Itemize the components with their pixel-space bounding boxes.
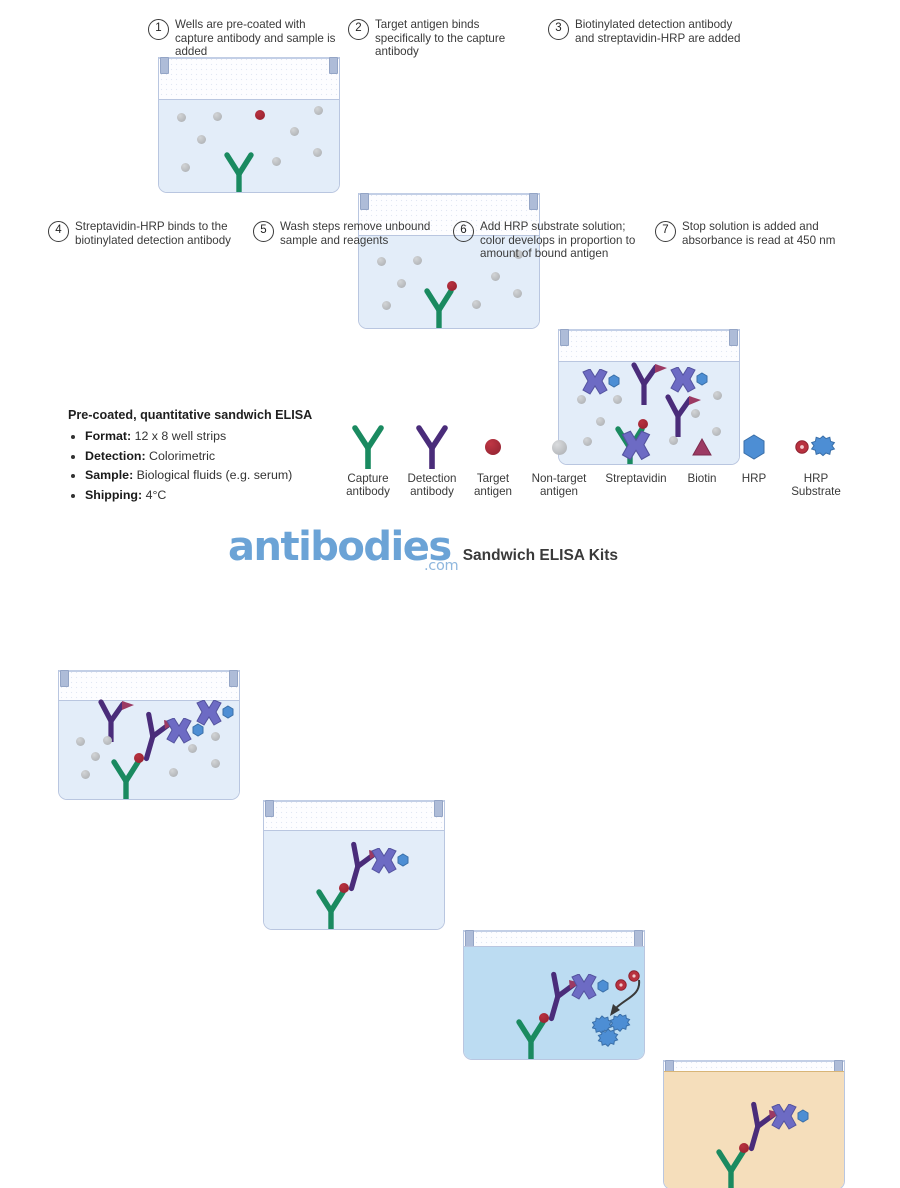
legend-label: Detection antibody [408, 472, 457, 499]
streptavidin-icon [197, 700, 221, 725]
well-5-top-edge [264, 800, 444, 802]
non-target-antigen-icon [713, 391, 722, 400]
non-target-antigen-icon [272, 157, 281, 166]
legend-label: HRP Substrate [791, 472, 841, 499]
streptavidin-icon [372, 848, 396, 873]
biotin-icon [692, 438, 712, 456]
well-1-top-edge [159, 57, 339, 59]
step-2-number: 2 [348, 19, 369, 40]
kit-info-item-detection: Detection: Colorimetric [85, 447, 358, 467]
legend-icon-wrap [692, 424, 712, 470]
legend-item-hrp-substrate: HRP Substrate [780, 424, 852, 499]
legend-label: HRP [742, 472, 766, 485]
step-1-header: 1 Wells are pre-coated with capture anti… [148, 18, 338, 59]
non-target-antigen-icon [197, 135, 206, 144]
streptavidin-hrp-icon [193, 700, 237, 728]
kit-info-title: Pre-coated, quantitative sandwich ELISA [68, 408, 358, 422]
non-target-antigen-icon [613, 395, 622, 404]
well-3-top-edge [559, 329, 739, 331]
well-2 [358, 193, 540, 329]
well-5-rim-right [434, 800, 443, 817]
legend-item-hrp: HRP [728, 424, 780, 485]
step-7-number: 7 [655, 221, 676, 242]
well-5-rim-left [265, 800, 274, 817]
non-target-antigen-icon [413, 256, 422, 265]
kit-info-label: Sample: [85, 468, 133, 482]
step-2-header: 2 Target antigen binds specifically to t… [348, 18, 538, 59]
kit-info-item-shipping: Shipping: 4°C [85, 486, 358, 506]
hrp-icon [798, 1110, 808, 1122]
well-6 [463, 930, 645, 1060]
hrp-icon [742, 434, 766, 460]
kit-info-value: Biological fluids (e.g. serum) [133, 468, 292, 482]
biotin-icon [122, 701, 134, 710]
step-6-number: 6 [453, 221, 474, 242]
well-2-rim-left [360, 193, 369, 210]
legend-label: Biotin [687, 472, 716, 485]
hrp-icon [398, 854, 408, 866]
non-target-antigen-icon [177, 113, 186, 122]
step-panel-7: 7 Stop solution is added and absorbance … [655, 220, 845, 247]
non-target-antigen-icon [382, 301, 391, 310]
kit-info-value: Colorimetric [146, 449, 216, 463]
brand-dotcom: .com [424, 558, 458, 574]
non-target-antigen-icon [76, 737, 85, 746]
well-3-rim-left [560, 329, 569, 346]
legend-icon-wrap [552, 424, 567, 470]
non-target-antigen-icon [169, 768, 178, 777]
well-1 [158, 57, 340, 193]
non-target-antigen-icon [397, 279, 406, 288]
legend-icon-wrap [742, 424, 766, 470]
non-target-antigen-icon [91, 752, 100, 761]
hrp-substrate-icon [614, 970, 642, 992]
well-5 [263, 800, 445, 930]
non-target-antigen-icon [513, 289, 522, 298]
legend-item-biotin: Biotin [676, 424, 728, 485]
streptavidin-hrp-icon [768, 1104, 812, 1132]
detection-antibody-icon [413, 425, 451, 469]
streptavidin-icon [772, 1104, 796, 1129]
legend-item-non-target-antigen: Non-target antigen [522, 424, 596, 499]
well-4-rim-left [60, 670, 69, 687]
legend-icon-wrap [349, 424, 387, 470]
step-3-number: 3 [548, 19, 569, 40]
non-target-antigen-icon [81, 770, 90, 779]
well-4-top-edge [59, 670, 239, 672]
step-panel-2: 2 Target antigen binds specifically to t… [348, 18, 538, 59]
streptavidin-icon [618, 430, 654, 464]
kit-info-value: 12 x 8 well strips [131, 429, 226, 443]
non-target-antigen-icon [188, 744, 197, 753]
legend-item-target-antigen: Target antigen [464, 424, 522, 499]
legend-icon-wrap [413, 424, 451, 470]
non-target-antigen-icon [577, 395, 586, 404]
streptavidin-icon [671, 367, 695, 392]
legend-item-capture-antibody: Capture antibody [336, 424, 400, 499]
step-3-header: 3 Biotinylated detection antibody and st… [548, 18, 744, 45]
hrp-substrate-product-icon [592, 1014, 634, 1048]
step-1-text: Wells are pre-coated with capture antibo… [175, 18, 338, 59]
step-5-text: Wash steps remove unbound sample and rea… [280, 220, 438, 247]
step-7-header: 7 Stop solution is added and absorbance … [655, 220, 845, 247]
hrp-icon [697, 373, 707, 385]
well-2-rim-right [529, 193, 538, 210]
kit-info-item-format: Format: 12 x 8 well strips [85, 427, 358, 447]
well-7 [663, 1060, 845, 1188]
step-panel-1: 1 Wells are pre-coated with capture anti… [148, 18, 338, 59]
well-4 [58, 670, 240, 800]
legend: Capture antibody Detection antibody Targ… [336, 424, 881, 499]
legend-item-streptavidin: Streptavidin [596, 424, 676, 485]
non-target-antigen-icon [313, 148, 322, 157]
streptavidin-hrp-icon [667, 367, 711, 395]
well-3-rim-right [729, 329, 738, 346]
brand-wordmark: antibodies [228, 527, 451, 567]
well-6-top-edge [464, 930, 644, 932]
well-6-rim-left [465, 930, 474, 947]
biotin-icon [689, 396, 701, 405]
legend-label: Non-target antigen [532, 472, 587, 499]
brand-footer: antibodies .com Sandwich ELISA Kits [228, 527, 618, 567]
well-4-rim-right [229, 670, 238, 687]
streptavidin-icon [572, 974, 596, 999]
step-panel-5: 5 Wash steps remove unbound sample and r… [253, 220, 438, 247]
detection-antibody-icon [93, 696, 135, 742]
target-antigen-icon [485, 439, 501, 455]
non-target-antigen-icon [213, 112, 222, 121]
well-2-top-edge [359, 193, 539, 195]
step-panel-6: 6 Add HRP substrate solution; color deve… [453, 220, 645, 261]
step-4-header: 4 Streptavidin-HRP binds to the biotinyl… [48, 220, 240, 247]
legend-label: Streptavidin [605, 472, 666, 485]
brand-tagline: Sandwich ELISA Kits [463, 547, 618, 565]
non-target-antigen-icon [290, 127, 299, 136]
well-1-rim-left [160, 57, 169, 74]
step-7-text: Stop solution is added and absorbance is… [682, 220, 845, 247]
step-panel-4: 4 Streptavidin-HRP binds to the biotinyl… [48, 220, 240, 247]
biotin-icon [655, 364, 667, 373]
non-target-antigen-icon [691, 409, 700, 418]
non-target-antigen-icon [211, 759, 220, 768]
streptavidin-hrp-icon [368, 848, 412, 876]
kit-info-list: Format: 12 x 8 well strips Detection: Co… [68, 427, 358, 505]
non-target-antigen-icon [314, 106, 323, 115]
step-3-text: Biotinylated detection antibody and stre… [575, 18, 744, 45]
step-5-number: 5 [253, 221, 274, 242]
non-target-antigen-icon [552, 440, 567, 455]
well-1-rim-right [329, 57, 338, 74]
step-6-header: 6 Add HRP substrate solution; color deve… [453, 220, 645, 261]
step-panel-3: 3 Biotinylated detection antibody and st… [548, 18, 744, 45]
streptavidin-icon [583, 369, 607, 394]
well-7-top-edge [664, 1060, 844, 1062]
step-5-header: 5 Wash steps remove unbound sample and r… [253, 220, 438, 247]
hrp-icon [609, 375, 619, 387]
legend-icon-wrap [485, 424, 501, 470]
streptavidin-hrp-icon [579, 369, 623, 397]
kit-info-label: Shipping: [85, 488, 142, 502]
kit-info-label: Format: [85, 429, 131, 443]
capture-antibody-icon [220, 147, 258, 193]
non-target-antigen-icon [103, 736, 112, 745]
well-6-rim-right [634, 930, 643, 947]
non-target-antigen-icon [472, 300, 481, 309]
capture-antibody-icon [349, 425, 387, 469]
target-antigen-icon [255, 110, 265, 120]
kit-info-label: Detection: [85, 449, 146, 463]
legend-item-detection-antibody: Detection antibody [400, 424, 464, 499]
step-6-text: Add HRP substrate solution; color develo… [480, 220, 645, 261]
legend-icon-wrap [618, 424, 654, 470]
legend-label: Capture antibody [346, 472, 390, 499]
step-4-number: 4 [48, 221, 69, 242]
non-target-antigen-icon [211, 732, 220, 741]
kit-info-item-sample: Sample: Biological fluids (e.g. serum) [85, 466, 358, 486]
step-4-text: Streptavidin-HRP binds to the biotinylat… [75, 220, 240, 247]
hrp-substrate-icon [793, 434, 839, 460]
non-target-antigen-icon [377, 257, 386, 266]
step-2-text: Target antigen binds specifically to the… [375, 18, 538, 59]
target-antigen-icon [447, 281, 457, 291]
non-target-antigen-icon [181, 163, 190, 172]
legend-icon-wrap [793, 424, 839, 470]
kit-info-block: Pre-coated, quantitative sandwich ELISA … [68, 408, 358, 505]
step-1-number: 1 [148, 19, 169, 40]
hrp-icon [223, 706, 233, 718]
kit-info-value: 4°C [142, 488, 166, 502]
legend-label: Target antigen [474, 472, 512, 499]
non-target-antigen-icon [491, 272, 500, 281]
streptavidin-icon [167, 718, 191, 743]
